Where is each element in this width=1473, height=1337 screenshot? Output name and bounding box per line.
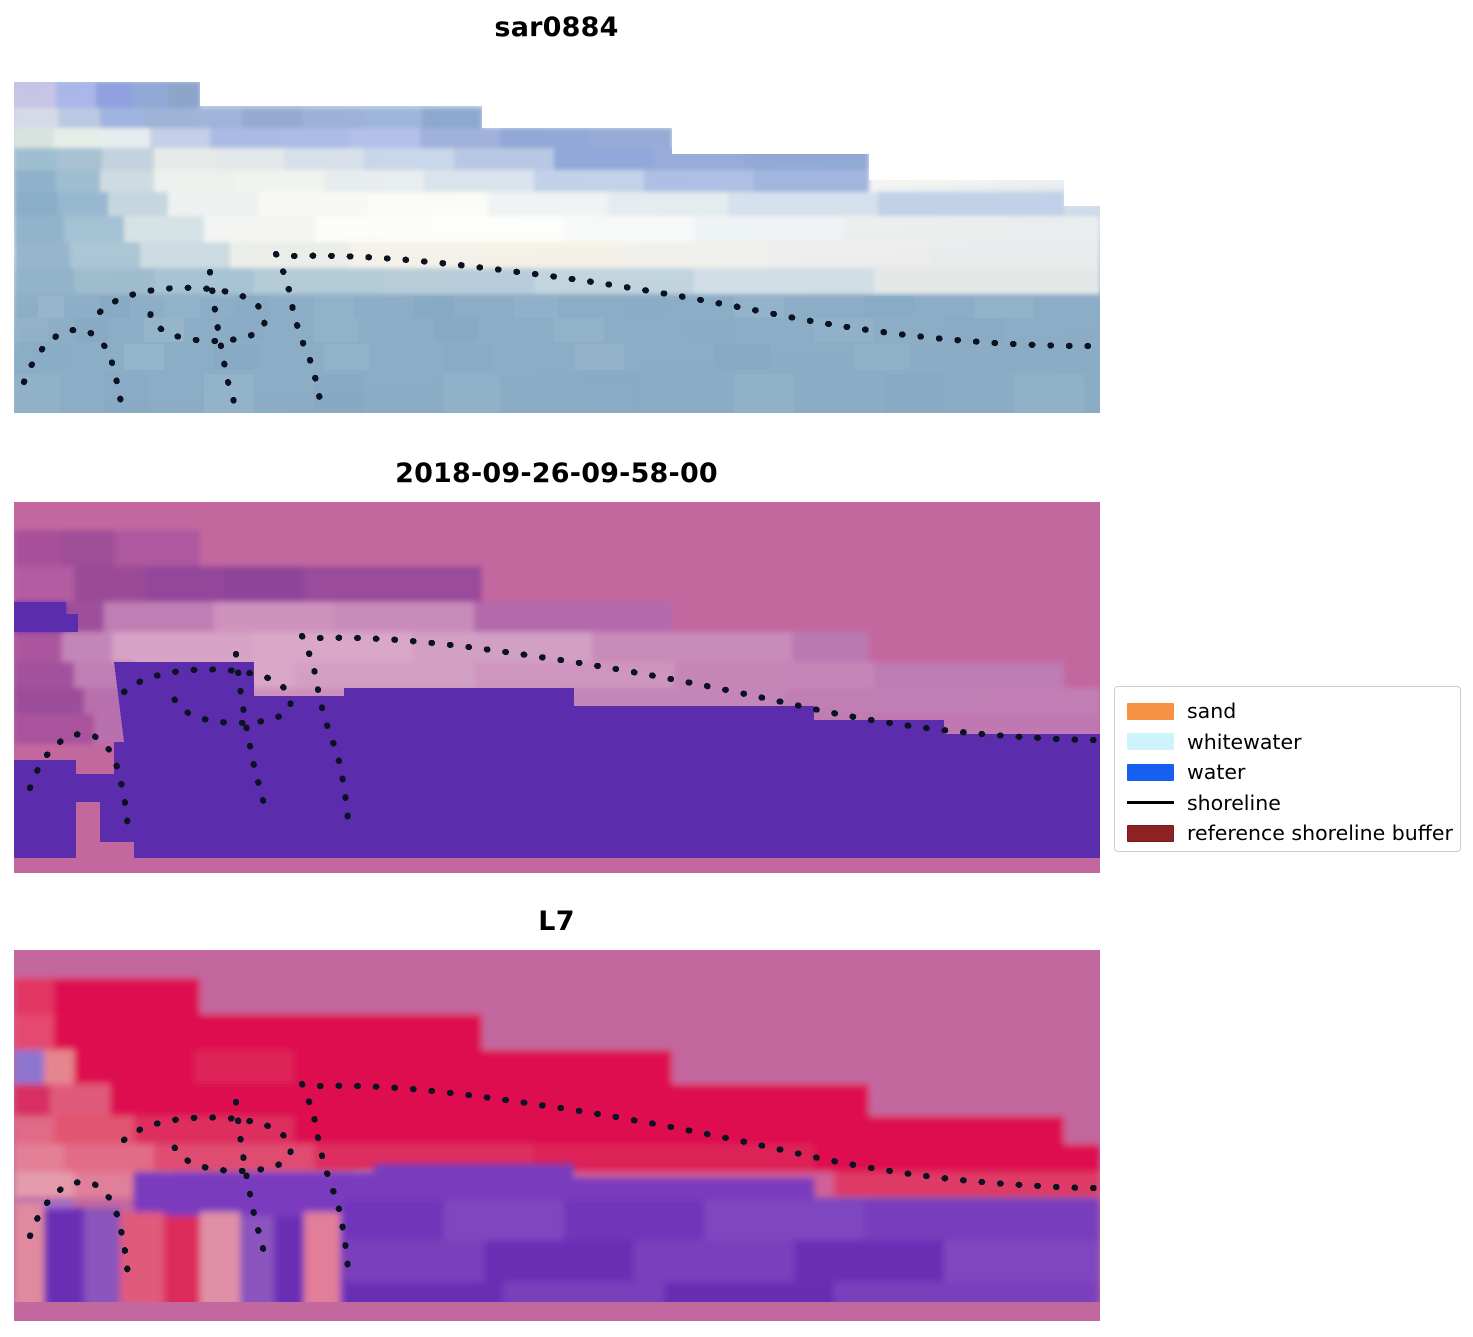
shoreline-line-icon (1127, 794, 1174, 811)
classification-raster (14, 502, 1100, 873)
panel-title-l7: L7 (0, 906, 1113, 937)
panel-title-sar: sar0884 (0, 12, 1113, 43)
legend-item-reference-shoreline-buffer: reference shoreline buffer (1127, 818, 1450, 849)
sand-swatch-icon (1127, 703, 1174, 720)
sar-raster (14, 82, 1100, 413)
legend-item-sand: sand (1127, 696, 1450, 727)
legend-label-reference-shoreline-buffer: reference shoreline buffer (1187, 823, 1453, 844)
legend-item-water: water (1127, 757, 1450, 788)
panel-title-classification: 2018-09-26-09-58-00 (0, 458, 1113, 489)
image-panel-classification (14, 502, 1100, 873)
legend-label-whitewater: whitewater (1187, 732, 1302, 753)
reference-buffer-swatch-icon (1127, 825, 1174, 842)
l7-raster (14, 950, 1100, 1321)
legend-item-whitewater: whitewater (1127, 727, 1450, 758)
whitewater-swatch-icon (1127, 733, 1174, 750)
image-panel-l7 (14, 950, 1100, 1321)
image-panel-sar (14, 82, 1100, 413)
water-swatch-icon (1127, 764, 1174, 781)
legend-label-shoreline: shoreline (1187, 793, 1281, 814)
legend-label-water: water (1187, 762, 1245, 783)
legend-label-sand: sand (1187, 701, 1236, 722)
legend-item-shoreline: shoreline (1127, 788, 1450, 819)
legend: sand whitewater water shoreline referenc… (1114, 686, 1461, 852)
